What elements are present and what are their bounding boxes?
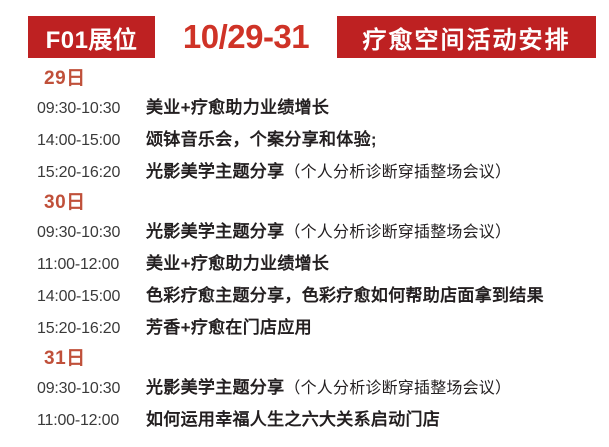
theme-badge: 疗愈空间活动安排	[337, 16, 596, 58]
row-title-wrap: 光影美学主题分享（个人分析诊断穿插整场会议）	[146, 216, 511, 248]
row-title-wrap: 光影美学主题分享（个人分析诊断穿插整场会议）	[146, 372, 511, 404]
row-title: 光影美学主题分享	[146, 378, 284, 397]
schedule-row: 11:00-12:00美业+疗愈助力业绩增长	[0, 248, 609, 280]
schedule-row: 09:30-10:30美业+疗愈助力业绩增长	[0, 92, 609, 124]
row-time: 15:20-16:20	[37, 157, 146, 188]
schedule-row: 11:00-12:00如何运用幸福人生之六大关系启动门店	[0, 404, 609, 436]
row-title: 色彩疗愈主题分享，色彩疗愈如何帮助店面拿到结果	[146, 286, 544, 305]
row-title-wrap: 光影美学主题分享（个人分析诊断穿插整场会议）	[146, 156, 511, 188]
header-banner: F01展位 10/29-31 疗愈空间活动安排	[28, 16, 596, 58]
row-note: （个人分析诊断穿插整场会议）	[284, 380, 511, 397]
row-title-wrap: 美业+疗愈助力业绩增长	[146, 248, 329, 280]
schedule-row: 15:20-16:20光影美学主题分享（个人分析诊断穿插整场会议）	[0, 156, 609, 188]
schedule-row: 09:30-10:30光影美学主题分享（个人分析诊断穿插整场会议）	[0, 372, 609, 404]
row-title: 光影美学主题分享	[146, 162, 284, 181]
row-title-wrap: 色彩疗愈主题分享，色彩疗愈如何帮助店面拿到结果	[146, 280, 544, 312]
row-time: 09:30-10:30	[37, 93, 146, 124]
day-label: 29日	[0, 66, 609, 92]
row-time: 09:30-10:30	[37, 373, 146, 404]
schedule-list: 29日09:30-10:30美业+疗愈助力业绩增长14:00-15:00颂钵音乐…	[0, 66, 609, 438]
row-title: 芳香+疗愈在门店应用	[146, 318, 312, 337]
row-title-wrap: 芳香+疗愈在门店应用	[146, 312, 312, 344]
row-time: 15:20-16:20	[37, 313, 146, 344]
row-title-wrap: 如何运用幸福人生之六大关系启动门店	[146, 404, 440, 436]
day-block: 29日09:30-10:30美业+疗愈助力业绩增长14:00-15:00颂钵音乐…	[0, 66, 609, 188]
row-title-wrap: 颂钵音乐会，个案分享和体验;	[146, 124, 377, 156]
day-label: 31日	[0, 346, 609, 372]
schedule-row: 14:00-15:00色彩疗愈主题分享，色彩疗愈如何帮助店面拿到结果	[0, 280, 609, 312]
row-note: （个人分析诊断穿插整场会议）	[284, 224, 511, 241]
day-block: 31日09:30-10:30光影美学主题分享（个人分析诊断穿插整场会议）11:0…	[0, 346, 609, 436]
date-range-label: 10/29-31	[155, 16, 337, 58]
schedule-row: 14:00-15:00颂钵音乐会，个案分享和体验;	[0, 124, 609, 156]
schedule-row: 09:30-10:30光影美学主题分享（个人分析诊断穿插整场会议）	[0, 216, 609, 248]
booth-badge: F01展位	[28, 16, 155, 58]
schedule-row: 15:20-16:20芳香+疗愈在门店应用	[0, 312, 609, 344]
row-time: 09:30-10:30	[37, 217, 146, 248]
row-time: 11:00-12:00	[37, 249, 146, 280]
day-block: 30日09:30-10:30光影美学主题分享（个人分析诊断穿插整场会议）11:0…	[0, 190, 609, 344]
row-note: （个人分析诊断穿插整场会议）	[284, 164, 511, 181]
row-title: 美业+疗愈助力业绩增长	[146, 98, 329, 117]
row-time: 14:00-15:00	[37, 125, 146, 156]
row-time: 14:00-15:00	[37, 281, 146, 312]
row-title-wrap: 美业+疗愈助力业绩增长	[146, 92, 329, 124]
row-title: 美业+疗愈助力业绩增长	[146, 254, 329, 273]
row-time: 11:00-12:00	[37, 405, 146, 436]
row-title: 光影美学主题分享	[146, 222, 284, 241]
row-title: 如何运用幸福人生之六大关系启动门店	[146, 410, 440, 429]
day-label: 30日	[0, 190, 609, 216]
row-title: 颂钵音乐会，个案分享和体验;	[146, 130, 377, 149]
